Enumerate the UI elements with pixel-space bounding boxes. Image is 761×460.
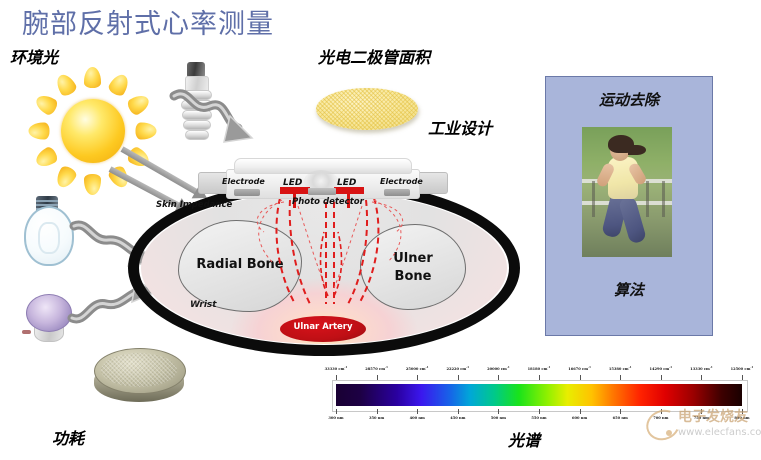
spectrum-bottom-tick-label: 550 nm	[531, 416, 546, 420]
slide-canvas: 腕部反射式心率测量 环境光 光电二极管面积 工业设计 功耗 光谱	[0, 0, 761, 460]
spectrum-bottom-tick-label: 450 nm	[450, 416, 465, 420]
electrode-right-label: Electrode	[380, 177, 423, 186]
spectrum-bottom-tick-mark	[498, 409, 499, 414]
spectrum-bottom-tick-mark	[336, 409, 337, 414]
spectrum-top-tick-mark	[539, 375, 540, 380]
spectrum-top-tick-mark	[742, 375, 743, 380]
page-title: 腕部反射式心率测量	[22, 2, 274, 41]
spectrum-top-tick-mark	[458, 375, 459, 380]
wrist-label: Wrist	[190, 300, 217, 310]
spectrum-top-tick-label: 33330 cm-1	[325, 366, 348, 371]
photo-detector	[308, 188, 336, 195]
spectrum-bottom-tick-mark	[377, 409, 378, 414]
spectrum-top-tick-mark	[336, 375, 337, 380]
spectrum-top-tick-label: 22220 cm-1	[446, 366, 469, 371]
spectrum-top-tick-label: 25000 cm-1	[406, 366, 429, 371]
spectrum-top-tick-label: 12500 cm-1	[731, 366, 754, 371]
ulnar-artery: Ulnar Artery	[280, 316, 366, 342]
spectrum-bottom-tick-label: 400 nm	[410, 416, 425, 420]
led-right	[334, 187, 364, 194]
spectrum-top-tick-mark	[417, 375, 418, 380]
led-left	[280, 187, 310, 194]
watermark: 电子发烧友 www.elecfans.com	[646, 404, 758, 452]
spectrum-bottom-tick-label: 600 nm	[572, 416, 587, 420]
label-industrial-design: 工业设计	[428, 115, 492, 139]
photo-detector-label: Photo detector	[292, 197, 364, 207]
spectrum-top-tick-mark	[701, 375, 702, 380]
watermark-url-text: www.elecfans.com	[678, 427, 761, 438]
spectrum-bottom-tick-mark	[580, 409, 581, 414]
spectrum-top-tick-label: 16670 cm-1	[568, 366, 591, 371]
label-power-consumption: 功耗	[52, 425, 84, 449]
motion-removal-panel: 运动去除 算法	[545, 76, 713, 336]
spectrum-top-tick-label: 18180 cm-1	[528, 366, 551, 371]
spectrum-top-tick-mark	[377, 375, 378, 380]
light-path-overlay	[238, 192, 424, 320]
sensor-module: Electrode Electrode LED LED Photo detect…	[204, 158, 440, 208]
spectrum-top-tick-mark	[580, 375, 581, 380]
algorithm-label: 算法	[546, 279, 712, 300]
electrode-left	[234, 189, 260, 196]
runner-photo	[582, 127, 672, 257]
electrode-left-label: Electrode	[222, 177, 265, 186]
spectrum-top-tick-mark	[620, 375, 621, 380]
spectrum-gradient-bar	[336, 384, 742, 406]
spectrum-bottom-tick-mark	[417, 409, 418, 414]
led-right-label: LED	[337, 178, 356, 188]
label-spectrum: 光谱	[508, 427, 540, 451]
label-ambient-light: 环境光	[10, 44, 58, 68]
spectrum-top-tick-mark	[661, 375, 662, 380]
spectrum-bottom-tick-mark	[539, 409, 540, 414]
sun-core	[61, 99, 125, 163]
spectrum-bottom-tick-label: 300 nm	[328, 416, 343, 420]
spectrum-top-tick-label: 20000 cm-1	[487, 366, 510, 371]
label-photodiode-area: 光电二极管面积	[318, 44, 430, 68]
skin-impedance-label: Skin Impedance	[156, 200, 232, 210]
spectrum-bottom-tick-label: 350 nm	[369, 416, 384, 420]
led-left-label: LED	[283, 178, 302, 188]
spectrum-bottom-tick-mark	[620, 409, 621, 414]
spectrum-top-tick-label: 13330 cm-1	[690, 366, 713, 371]
wavy-arrow-1	[168, 86, 254, 154]
wrist-cross-section-diagram: Radial Bone Ulner Bone Wrist	[128, 158, 520, 356]
spectrum-top-tick-label: 14290 cm-1	[649, 366, 672, 371]
elecfans-logo-dot	[666, 430, 672, 436]
spectrum-top-tick-label: 15380 cm-1	[609, 366, 632, 371]
spectrum-top-tick-label: 28570 cm-1	[365, 366, 388, 371]
watermark-cn-text: 电子发烧友	[678, 406, 748, 426]
spectrum-bottom-tick-label: 500 nm	[491, 416, 506, 420]
photodiode-ellipse	[316, 88, 418, 130]
spectrum-top-tick-mark	[498, 375, 499, 380]
ulnar-artery-label: Ulnar Artery	[280, 322, 366, 332]
runner-legs	[604, 195, 648, 247]
motion-removal-label: 运动去除	[546, 77, 712, 110]
spectrum-top-axis: 33330 cm-128570 cm-125000 cm-122220 cm-1…	[332, 366, 746, 378]
electrode-right	[384, 189, 410, 196]
spectrum-bottom-tick-mark	[458, 409, 459, 414]
spectrum-bottom-tick-label: 650 nm	[613, 416, 628, 420]
